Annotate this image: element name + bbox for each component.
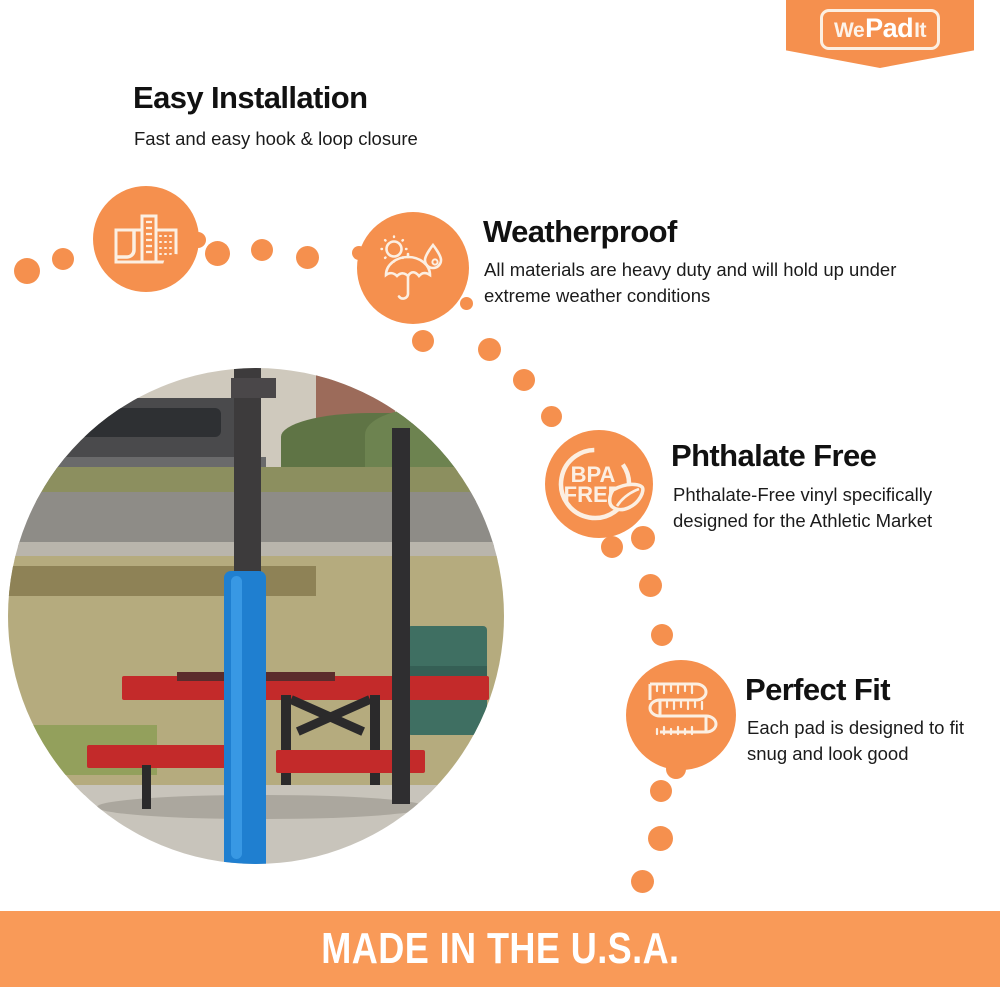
feature-description-perfect-fit: Each pad is designed to fit snug and loo… — [747, 715, 977, 766]
feature-description-easy-installation: Fast and easy hook & loop closure — [134, 126, 554, 152]
trail-dot — [296, 246, 319, 269]
feature-title-phthalate-free: Phthalate Free — [671, 438, 876, 474]
logo-text-pad: Pad — [865, 15, 913, 42]
trail-dot — [648, 826, 673, 851]
trail-dot — [631, 870, 654, 893]
trail-dot — [650, 780, 672, 802]
icon-nub — [666, 759, 686, 779]
trail-dot — [639, 574, 662, 597]
blue-post-pad — [224, 571, 267, 864]
feature-title-perfect-fit: Perfect Fit — [745, 672, 890, 708]
feature-description-phthalate-free: Phthalate-Free vinyl specifically design… — [673, 482, 943, 533]
building-hook-loop-icon — [93, 186, 199, 292]
trail-dot — [14, 258, 40, 284]
bpa-free-leaf-icon: BPA FREE — [545, 430, 653, 538]
icon-nub — [460, 297, 473, 310]
icon-nub — [631, 526, 655, 550]
banner-text: MADE IN THE U.S.A. — [321, 924, 679, 974]
trail-dot — [513, 369, 535, 391]
logo-text-it: It — [914, 20, 926, 41]
umbrella-sun-raindrop-icon — [357, 212, 469, 324]
feature-description-weatherproof: All materials are heavy duty and will ho… — [484, 257, 914, 308]
trail-dot — [651, 624, 673, 646]
logo-text-we: We — [834, 20, 864, 41]
logo-outline-box: We Pad It — [820, 9, 940, 50]
trail-dot — [205, 241, 230, 266]
trail-dot — [541, 406, 562, 427]
brand-logo-badge: We Pad It — [786, 0, 974, 68]
trail-dot — [251, 239, 273, 261]
trail-dot — [163, 254, 187, 278]
trail-dot — [478, 338, 501, 361]
infographic-page: We Pad It Easy Installation Fast and eas… — [0, 0, 1000, 987]
feature-title-weatherproof: Weatherproof — [483, 214, 677, 250]
product-photo-post-pad — [8, 368, 504, 864]
icon-nub — [352, 246, 366, 260]
measuring-tape-icon — [626, 660, 736, 770]
feature-title-easy-installation: Easy Installation — [133, 80, 367, 116]
trail-dot — [601, 536, 623, 558]
made-in-usa-banner: MADE IN THE U.S.A. — [0, 911, 1000, 987]
icon-nub — [190, 232, 206, 248]
trail-dot — [52, 248, 74, 270]
trail-dot — [412, 330, 434, 352]
